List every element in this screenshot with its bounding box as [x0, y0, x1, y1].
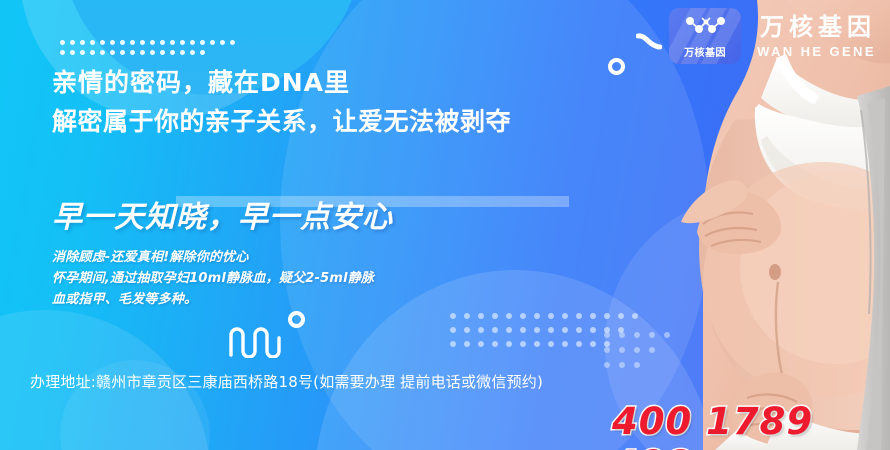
logo-name-en: WAN HE GENE [755, 45, 876, 58]
headline-line-1: 亲情的密码，藏在DNA里 [52, 66, 511, 100]
logo-badge: 万核基因 [669, 8, 741, 64]
logo-badge-label: 万核基因 [684, 44, 726, 59]
body-line-2: 怀孕期间,通过抽取孕妇10ml静脉血，疑父2-5ml静脉 [52, 268, 374, 289]
decor-dot-grid-top [60, 40, 240, 60]
headline-line-2: 解密属于你的亲子关系，让爱无法被剥夺 [52, 105, 511, 139]
pregnant-woman-photo [585, 0, 890, 450]
body-copy: 消除顾虑-还爱真相!解除你的忧心 怀孕期间,通过抽取孕妇10ml静脉血，疑父2-… [52, 247, 374, 310]
promo-banner: 万核基因 万核基因 WAN HE GENE 亲情的密码，藏在DNA里 解密属于你… [0, 0, 890, 450]
body-line-3: 血或指甲、毛发等多种。 [52, 289, 374, 310]
phone-number[interactable]: 400 1789 498 [612, 400, 890, 450]
squiggle-wave-icon [228, 326, 290, 358]
headline: 亲情的密码，藏在DNA里 解密属于你的亲子关系，让爱无法被剥夺 [52, 66, 511, 139]
molecule-icon [682, 14, 728, 43]
logo-wordmark: 万核基因 WAN HE GENE [755, 15, 876, 58]
body-line-1: 消除顾虑-还爱真相!解除你的忧心 [52, 247, 374, 268]
subheadline: 早一天知晓，早一点安心 [52, 192, 393, 236]
logo-name-cn: 万核基因 [755, 15, 876, 39]
office-address: 办理地址:赣州市章贡区三康庙西桥路18号(如需要办理 提前电话或微信预约) [30, 371, 543, 392]
ring-circle-icon [288, 311, 305, 328]
brand-logo[interactable]: 万核基因 万核基因 WAN HE GENE [669, 8, 876, 64]
